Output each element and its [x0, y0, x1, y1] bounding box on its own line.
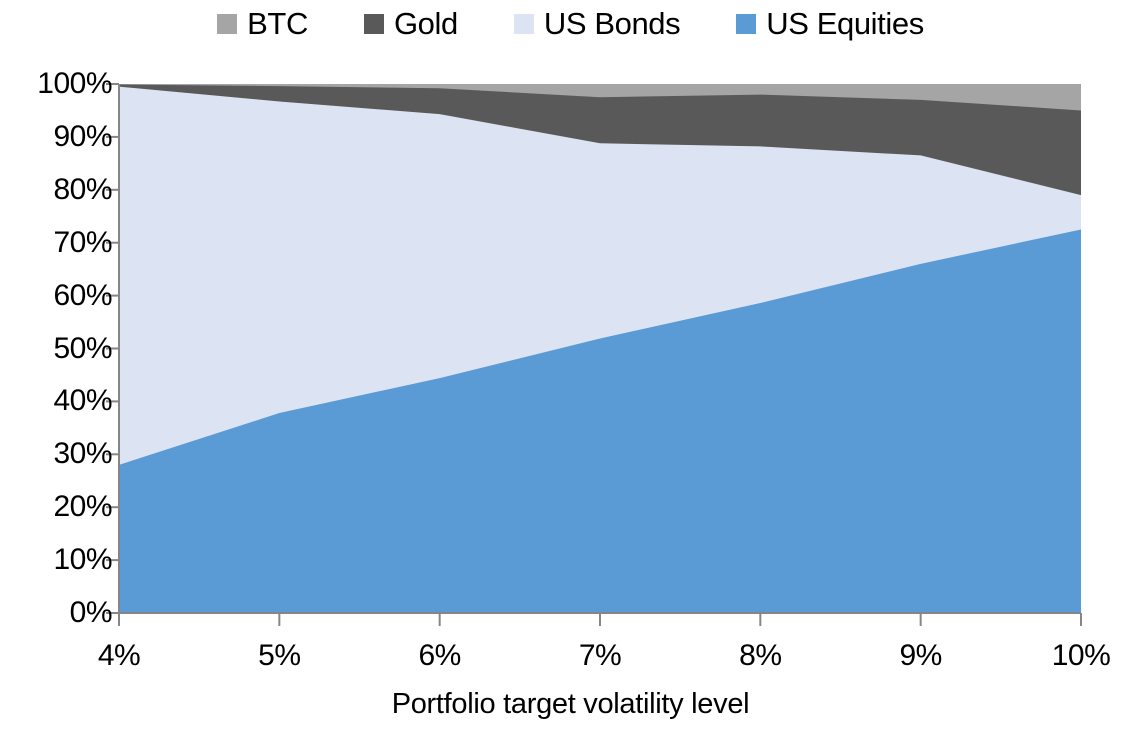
x-tick-label: 4% — [98, 641, 140, 671]
x-tick-label: 8% — [739, 641, 781, 671]
stacked-area-chart: BTC Gold US Bonds US Equities 0%10%20%30… — [0, 0, 1141, 742]
x-tick-label: 5% — [258, 641, 300, 671]
x-tick-label: 9% — [899, 641, 941, 671]
x-axis-title: Portfolio target volatility level — [0, 690, 1141, 719]
x-tick-label: 7% — [579, 641, 621, 671]
x-tick-label: 10% — [1052, 641, 1111, 671]
x-tick-label: 6% — [418, 641, 460, 671]
x-axis-tick-labels: 4%5%6%7%8%9%10% — [0, 0, 1141, 742]
